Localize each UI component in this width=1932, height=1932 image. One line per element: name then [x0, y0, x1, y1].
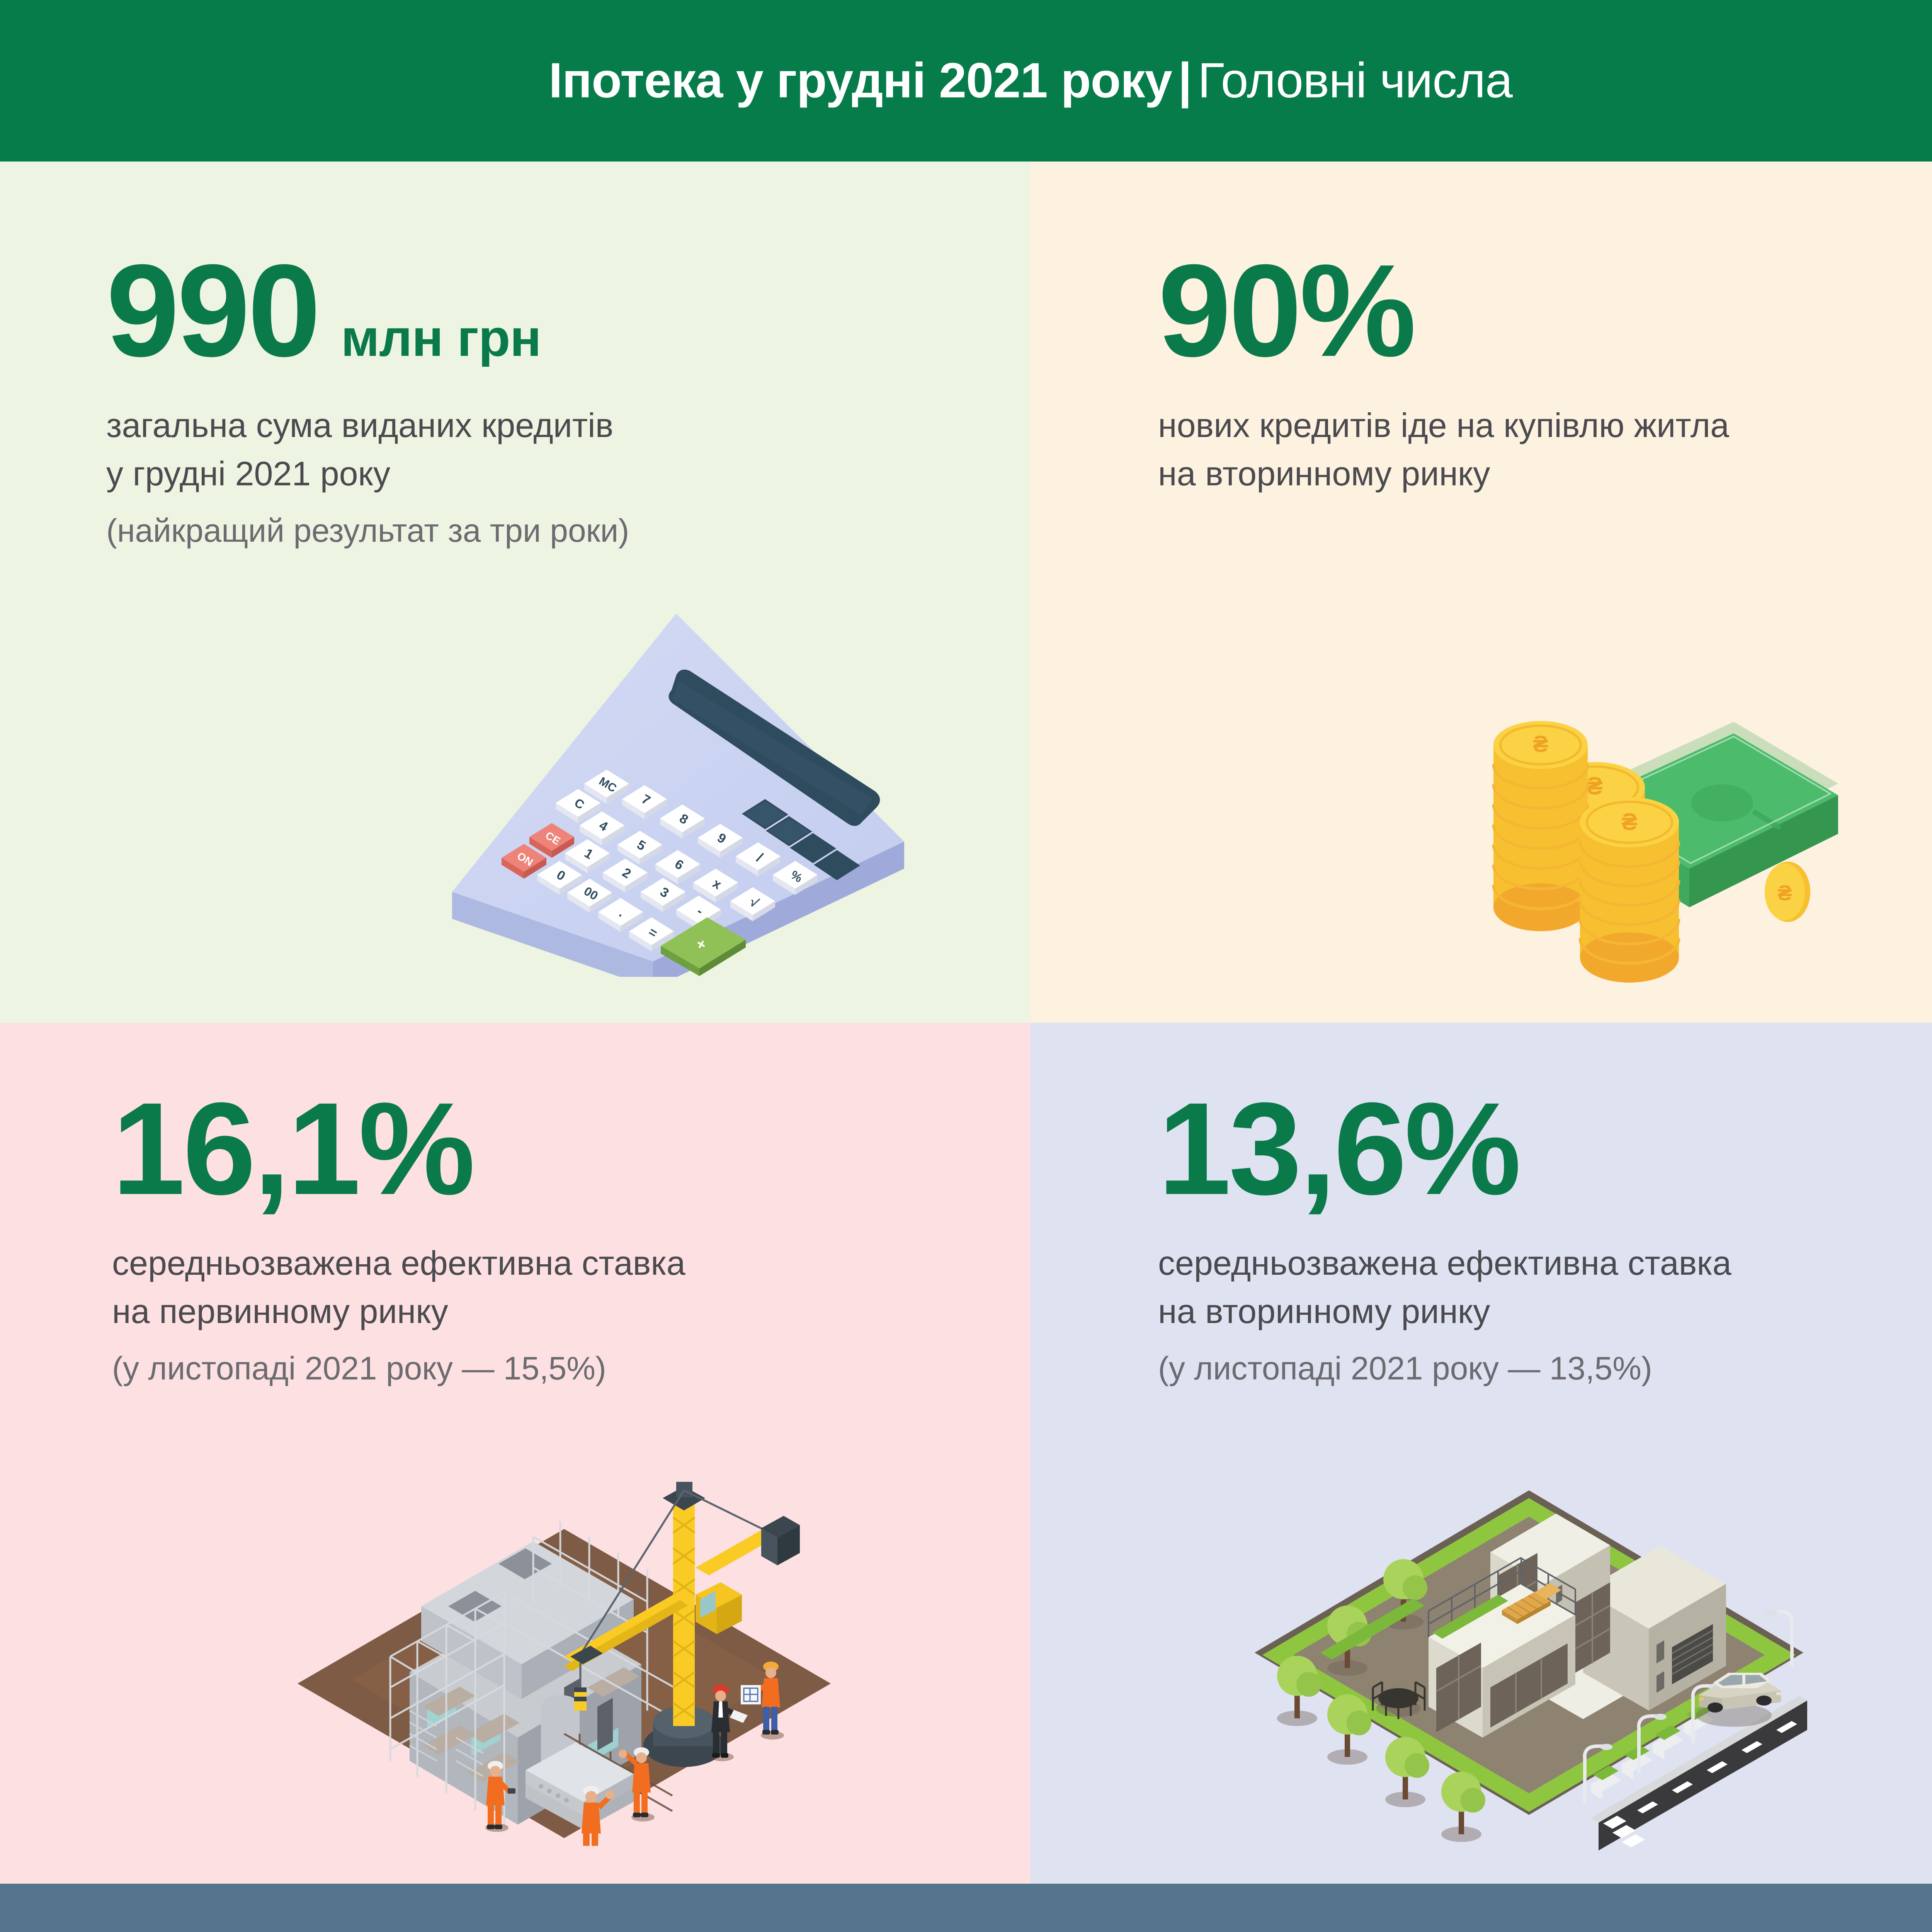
stat-description-line-1: загальна сума виданих кредитів: [106, 401, 918, 450]
svg-text:₴: ₴: [1621, 809, 1637, 835]
calculator-illustration: MC C: [406, 598, 947, 977]
stat-description-line-1: нових кредитів іде на купівлю житла: [1158, 401, 1932, 450]
stat-value-row: 990 млн грн: [106, 250, 1031, 371]
stat-card-primary-market-rate: 16,1% середньозважена ефективна ставка н…: [0, 1023, 1031, 1884]
stat-card-secondary-market-rate: 13,6% середньозважена ефективна ставка н…: [1031, 1023, 1932, 1884]
stat-description: загальна сума виданих кредитів у грудні …: [106, 401, 918, 554]
page-header: Іпотека у грудні 2021 року|Головні числа: [0, 0, 1932, 162]
svg-text:₴: ₴: [1777, 881, 1792, 905]
stat-value-row: 13,6%: [1158, 1088, 1932, 1209]
stat-card-secondary-market-share: 90% нових кредитів іде на купівлю житла …: [1031, 162, 1932, 1023]
page-title-bold: Іпотека у грудні 2021 року: [549, 53, 1172, 108]
page-footer: 8,9млрд грн нової іпотеки видали банки у…: [0, 1884, 1932, 1932]
stat-subnote: (найкращий результат за три роки): [106, 508, 918, 554]
stat-description-line-2: на первинному ринку: [112, 1287, 923, 1336]
svg-text:₴: ₴: [1533, 731, 1548, 757]
stat-description: середньозважена ефективна ставка на втор…: [1158, 1239, 1932, 1391]
money-illustration: ₴: [1467, 675, 1854, 1015]
title-separator: |: [1172, 53, 1198, 108]
page-title-light: Головні числа: [1198, 53, 1512, 108]
stat-value: 16,1%: [112, 1088, 473, 1209]
stat-subnote: (у листопаді 2021 року — 15,5%): [112, 1346, 923, 1391]
stat-value-row: 16,1%: [112, 1088, 1031, 1209]
stat-value: 90%: [1158, 250, 1414, 371]
stat-unit: млн грн: [341, 308, 541, 368]
house-illustration: [1251, 1436, 1830, 1854]
stat-card-total-loans: 990 млн грн загальна сума виданих кредит…: [0, 162, 1031, 1023]
stat-description-line-2: на вторинному ринку: [1158, 450, 1932, 498]
stats-grid: 990 млн грн загальна сума виданих кредит…: [0, 162, 1932, 1884]
stat-description-line-2: на вторинному ринку: [1158, 1287, 1932, 1336]
construction-illustration: [294, 1440, 835, 1846]
stat-value-row: 90%: [1158, 250, 1932, 371]
stat-value: 13,6%: [1158, 1088, 1519, 1209]
stat-description-line-1: середньозважена ефективна ставка: [1158, 1239, 1932, 1287]
infographic-page: Іпотека у грудні 2021 року|Головні числа…: [0, 0, 1932, 1932]
stat-description-line-1: середньозважена ефективна ставка: [112, 1239, 923, 1287]
stat-description: нових кредитів іде на купівлю житла на в…: [1158, 401, 1932, 498]
stat-description: середньозважена ефективна ставка на перв…: [112, 1239, 923, 1391]
stat-subnote: (у листопаді 2021 року — 13,5%): [1158, 1346, 1932, 1391]
stat-value: 990: [106, 250, 318, 371]
page-title: Іпотека у грудні 2021 року|Головні числа: [549, 56, 1512, 105]
stat-description-line-2: у грудні 2021 року: [106, 450, 918, 498]
